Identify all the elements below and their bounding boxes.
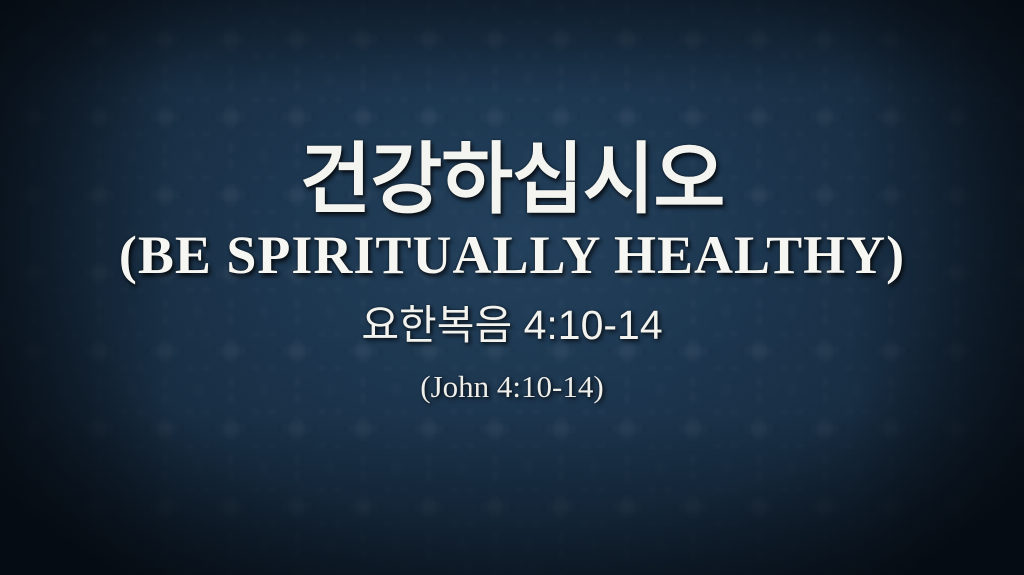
scripture-reference-korean: 요한복음 4:10-14 [0, 305, 1024, 346]
slide-title-english: (BE SPIRITUALLY HEALTHY) [0, 228, 1024, 282]
scripture-reference-english: (John 4:10-14) [0, 371, 1024, 402]
slide-title-korean: 건강하십시오 [0, 140, 1024, 218]
slide-text-content: 건강하십시오 (BE SPIRITUALLY HEALTHY) 요한복음 4:1… [0, 0, 1024, 575]
presentation-slide: 건강하십시오 (BE SPIRITUALLY HEALTHY) 요한복음 4:1… [0, 0, 1024, 575]
